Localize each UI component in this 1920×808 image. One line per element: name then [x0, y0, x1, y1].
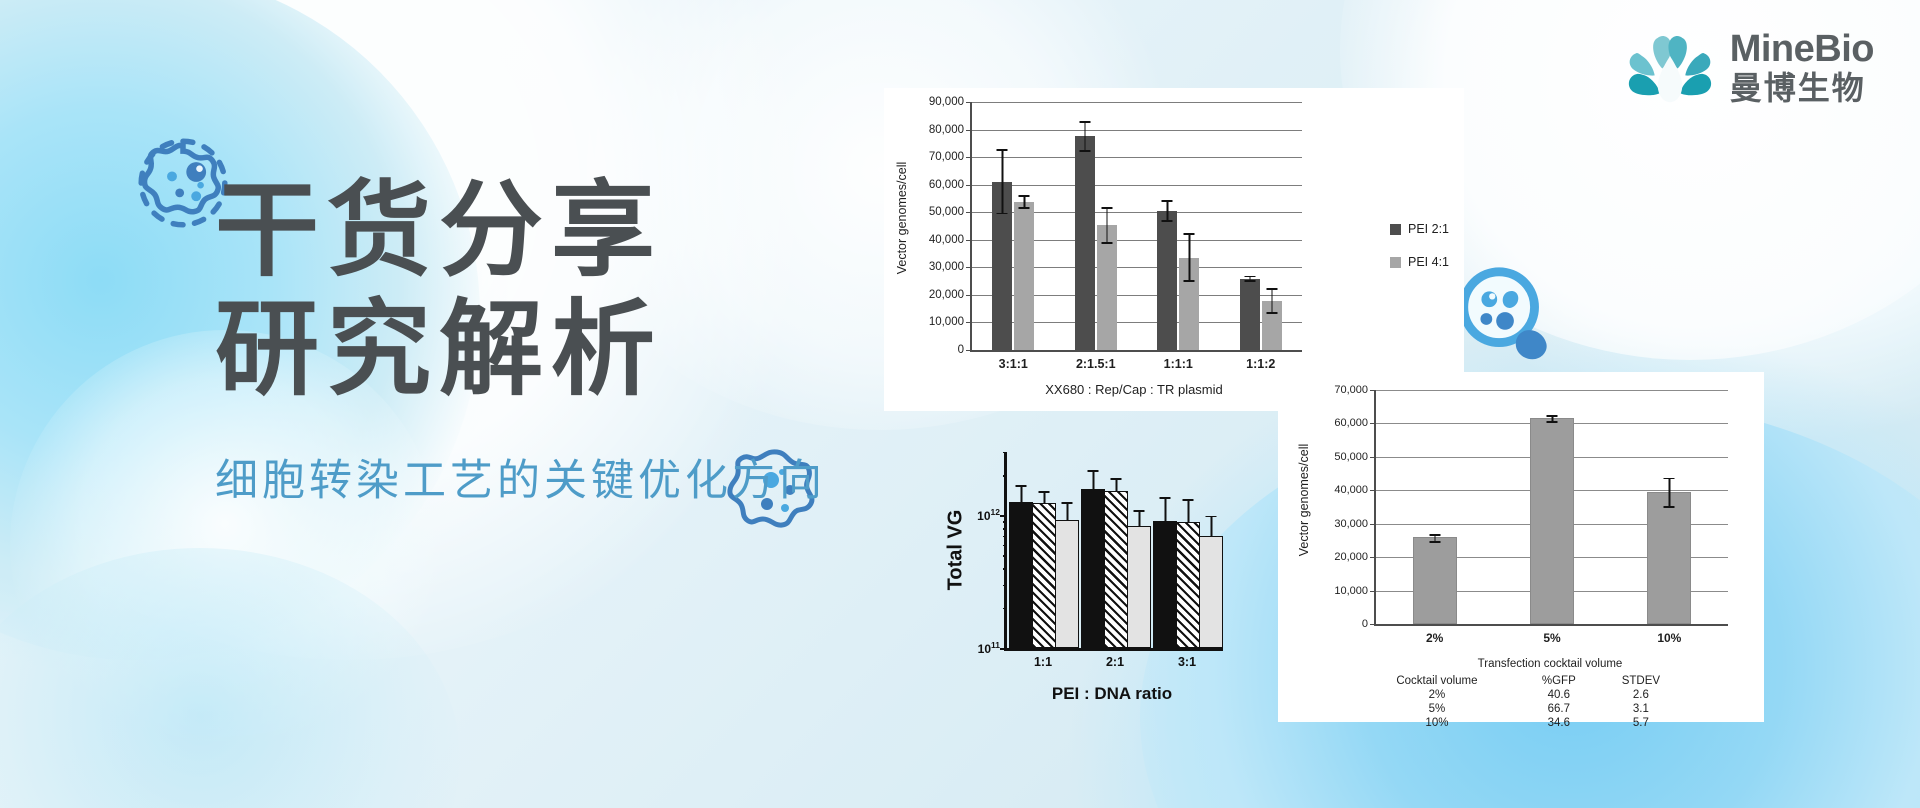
- bar: [1262, 301, 1282, 350]
- y-axis-tick: [1370, 524, 1376, 525]
- y-axis-tick-label: 50,000: [1334, 451, 1368, 463]
- bar: [1055, 520, 1079, 648]
- y-axis-minor-tick: [1003, 528, 1007, 529]
- x-axis-tick-label: 1:1:2: [1246, 357, 1275, 371]
- magnifier-cell-icon: [1448, 258, 1566, 376]
- y-axis-tick: [966, 240, 972, 241]
- error-bar: [1079, 121, 1090, 151]
- headline-line-2: 研究解析: [215, 287, 875, 414]
- y-axis-tick: [1370, 423, 1376, 424]
- error-bar: [1206, 516, 1217, 537]
- error-bar: [1266, 288, 1277, 314]
- bar: [1199, 536, 1223, 648]
- table-cell: 2%: [1354, 688, 1520, 702]
- error-bar: [1088, 470, 1099, 490]
- table-cell: 10%: [1354, 716, 1520, 730]
- y-axis-tick: [966, 130, 972, 131]
- error-bar: [1134, 510, 1145, 527]
- x-axis-tick-label: 5%: [1543, 631, 1560, 645]
- y-axis-tick-label: 70,000: [929, 151, 964, 163]
- table-column-header: STDEV: [1598, 674, 1684, 688]
- chart3-plot-area: 010,00020,00030,00040,00050,00060,00070,…: [1374, 390, 1728, 626]
- legend-item: PEI 4:1: [1390, 255, 1449, 269]
- y-axis-tick-label: 40,000: [1334, 484, 1368, 496]
- x-axis-tick-label: 1:1:1: [1164, 357, 1193, 371]
- table-cell: 3.1: [1598, 702, 1684, 716]
- gridline: [972, 157, 1302, 158]
- bar-group: 3:1:1: [992, 182, 1034, 350]
- bar: [1176, 522, 1200, 648]
- error-bar: [1162, 200, 1173, 222]
- logo-wordmark: MineBio 曼博生物: [1730, 30, 1874, 104]
- bar: 2%: [1413, 537, 1457, 624]
- bar: 10%: [1647, 492, 1691, 624]
- table-cell: 5.7: [1598, 716, 1684, 730]
- y-axis-tick-label: 50,000: [929, 206, 964, 218]
- table-column-header: %GFP: [1520, 674, 1598, 688]
- y-axis-tick-label: 80,000: [929, 124, 964, 136]
- headline-block: 干货分享 研究解析 细胞转染工艺的关键优化方向: [215, 168, 875, 508]
- y-axis-tick: [966, 185, 972, 186]
- chart1-y-axis-title: Vector genomes/cell: [895, 162, 909, 275]
- y-axis-tick-label: 10,000: [929, 316, 964, 328]
- brand-name-en: MineBio: [1730, 30, 1874, 68]
- legend-label: PEI 4:1: [1408, 255, 1449, 269]
- x-axis-tick-label: 2:1.5:1: [1076, 357, 1116, 371]
- y-axis-minor-tick: [1003, 475, 1007, 476]
- figure-panel-chart1: Vector genomes/cell 010,00020,00030,0004…: [884, 88, 1464, 411]
- legend-swatch: [1390, 224, 1401, 235]
- y-axis-tick: [1370, 390, 1376, 391]
- x-axis-tick-label: 2%: [1426, 631, 1443, 645]
- y-axis-tick: [966, 322, 972, 323]
- bar: [1153, 521, 1177, 648]
- subtitle: 细胞转染工艺的关键优化方向: [215, 446, 875, 508]
- y-axis-minor-tick: [1003, 585, 1007, 586]
- y-axis-minor-tick: [1003, 555, 1007, 556]
- x-axis-tick-label: 1:1: [1034, 655, 1052, 669]
- y-axis-tick: [966, 212, 972, 213]
- table-cell: 2.6: [1598, 688, 1684, 702]
- y-axis-tick: [1000, 515, 1007, 517]
- chart3-y-axis-title: Vector genomes/cell: [1297, 444, 1311, 557]
- table-row: 10%34.65.7: [1354, 716, 1684, 730]
- error-bar: [1039, 491, 1050, 504]
- y-axis-tick-label: 20,000: [929, 289, 964, 301]
- y-axis-minor-tick: [1003, 536, 1007, 537]
- y-axis-tick-label: 20,000: [1334, 551, 1368, 563]
- error-bar: [1062, 502, 1073, 521]
- error-bar: [1547, 415, 1558, 423]
- x-axis-tick-label: 3:1: [1178, 655, 1196, 669]
- headline-line-1: 干货分享: [215, 168, 875, 295]
- y-axis-minor-tick: [1003, 545, 1007, 546]
- bar: [1009, 502, 1033, 648]
- bar: [1032, 503, 1056, 648]
- y-axis-tick: [966, 267, 972, 268]
- y-axis-minor-tick: [1003, 608, 1007, 609]
- y-axis-tick: [966, 350, 972, 351]
- table-header-row: Cocktail volume%GFPSTDEV: [1354, 674, 1684, 688]
- legend-item: PEI 2:1: [1390, 222, 1449, 236]
- error-bar: [1183, 499, 1194, 523]
- y-axis-tick: [966, 157, 972, 158]
- y-axis-tick: [966, 102, 972, 103]
- y-axis-tick-label: 60,000: [929, 179, 964, 191]
- table-cell: 40.6: [1520, 688, 1598, 702]
- table-column-header: Cocktail volume: [1354, 674, 1520, 688]
- y-axis-tick: [1370, 490, 1376, 491]
- y-axis-minor-tick: [1003, 521, 1007, 522]
- table-row: 2%40.62.6: [1354, 688, 1684, 702]
- error-bar: [1429, 534, 1440, 543]
- bar: [1081, 489, 1105, 648]
- error-bar: [1244, 276, 1255, 283]
- bar: [992, 182, 1012, 350]
- chart3-x-axis-title: Transfection cocktail volume: [1478, 658, 1623, 670]
- y-axis-tick-label: 10,000: [1334, 585, 1368, 597]
- error-bar: [1664, 478, 1675, 508]
- table-row: 5%66.73.1: [1354, 702, 1684, 716]
- y-axis-tick-label: 30,000: [1334, 518, 1368, 530]
- y-axis-tick: [966, 295, 972, 296]
- y-axis-tick: [1370, 457, 1376, 458]
- figure-panel-chart2: Total VG 101110121:12:13:1 PEI : DNA rat…: [940, 432, 1260, 702]
- legend-swatch: [1390, 257, 1401, 268]
- error-bar: [1160, 497, 1171, 521]
- y-axis-tick-label: 70,000: [1334, 384, 1368, 396]
- chart2-plot-area: 101110121:12:13:1: [1004, 452, 1223, 651]
- y-axis-tick-label: 0: [958, 344, 964, 356]
- error-bar: [1111, 478, 1122, 492]
- error-bar: [1019, 195, 1030, 209]
- x-axis-tick-label: 2:1: [1106, 655, 1124, 669]
- y-axis-tick-label: 0: [1362, 618, 1368, 630]
- chart1-x-axis-title: XX680 : Rep/Cap : TR plasmid: [1045, 382, 1223, 397]
- y-axis-tick-label: 1011: [978, 640, 1000, 656]
- error-bar: [1101, 207, 1112, 244]
- y-axis-tick-label: 60,000: [1334, 417, 1368, 429]
- chart1: Vector genomes/cell 010,00020,00030,0004…: [884, 88, 1464, 411]
- y-axis-tick-label: 1012: [977, 507, 1000, 523]
- x-axis-tick-label: 3:1:1: [999, 357, 1028, 371]
- bar: [1104, 491, 1128, 648]
- error-bar: [997, 149, 1008, 214]
- legend-label: PEI 2:1: [1408, 222, 1449, 236]
- brand-name-cn: 曼博生物: [1730, 72, 1874, 104]
- logo: MineBio 曼博生物: [1624, 30, 1874, 104]
- chart1-legend: PEI 2:1 PEI 4:1: [1390, 222, 1449, 288]
- bar: [1157, 211, 1177, 350]
- y-axis-tick-label: 30,000: [929, 261, 964, 273]
- y-axis-tick: [1370, 624, 1376, 625]
- y-axis-minor-tick: [1003, 568, 1007, 569]
- x-axis-tick-label: 10%: [1657, 631, 1681, 645]
- y-axis-tick-label: 90,000: [929, 96, 964, 108]
- bar: [1075, 136, 1095, 350]
- bar: [1179, 258, 1199, 350]
- chart2-y-axis-title: Total VG: [945, 510, 968, 591]
- bar: [1127, 526, 1151, 648]
- minebio-flower-icon: [1624, 30, 1716, 104]
- y-axis-tick-label: 40,000: [929, 234, 964, 246]
- bar: 5%: [1530, 418, 1574, 624]
- table-cell: 5%: [1354, 702, 1520, 716]
- table-cell: 66.7: [1520, 702, 1598, 716]
- y-axis-minor-tick: [1003, 452, 1007, 453]
- error-bar: [1016, 485, 1027, 503]
- bar: [1014, 202, 1034, 350]
- y-axis-tick: [1000, 648, 1007, 650]
- error-bar: [1184, 233, 1195, 281]
- chart1-plot-area: 010,00020,00030,00040,00050,00060,00070,…: [970, 102, 1302, 352]
- gridline: [1376, 390, 1728, 391]
- chart3: Vector genomes/cell 010,00020,00030,0004…: [1278, 372, 1764, 722]
- table-cell: 34.6: [1520, 716, 1598, 730]
- gridline: [972, 102, 1302, 103]
- y-axis-tick: [1370, 591, 1376, 592]
- bar-group: 1:1:2: [1240, 279, 1282, 350]
- bar-group: 1:1:1: [1157, 211, 1199, 350]
- chart2-x-axis-title: PEI : DNA ratio: [1052, 684, 1172, 704]
- bar: [1240, 279, 1260, 350]
- figure-panel-chart3: Vector genomes/cell 010,00020,00030,0004…: [1278, 372, 1764, 722]
- gridline: [972, 130, 1302, 131]
- bar-group: 2:1.5:1: [1075, 136, 1117, 350]
- bar: [1097, 225, 1117, 350]
- chart3-data-table: Cocktail volume%GFPSTDEV 2%40.62.65%66.7…: [1354, 674, 1684, 730]
- y-axis-tick: [1370, 557, 1376, 558]
